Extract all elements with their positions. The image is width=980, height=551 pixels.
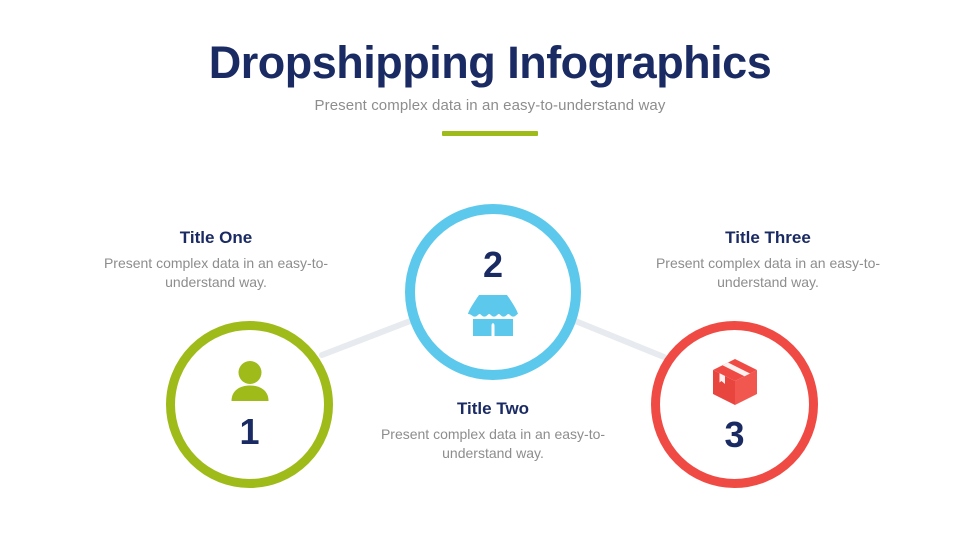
step-circle-2[interactable]: 2 (405, 204, 581, 380)
storefront-icon (467, 293, 519, 337)
step-text-block-3: Title Three Present complex data in an e… (648, 228, 888, 292)
step-title-2: Title Two (373, 399, 613, 419)
step-description-2: Present complex data in an easy-to-under… (373, 425, 613, 463)
step-title-3: Title Three (648, 228, 888, 248)
step-description-1: Present complex data in an easy-to-under… (96, 254, 336, 292)
infographic-slide: Dropshipping Infographics Present comple… (0, 0, 980, 551)
connector-two-to-three (568, 318, 664, 357)
connector-one-to-two (322, 318, 418, 355)
package-box-icon (710, 357, 760, 407)
step-number-1: 1 (239, 414, 259, 450)
person-icon (228, 360, 272, 402)
step-number-2: 2 (483, 247, 503, 283)
step-number-3: 3 (724, 417, 744, 453)
step-circle-3[interactable]: 3 (651, 321, 818, 488)
step-text-block-1: Title One Present complex data in an eas… (96, 228, 336, 292)
step-text-block-2: Title Two Present complex data in an eas… (373, 399, 613, 463)
step-description-3: Present complex data in an easy-to-under… (648, 254, 888, 292)
step-title-1: Title One (96, 228, 336, 248)
step-circle-1[interactable]: 1 (166, 321, 333, 488)
